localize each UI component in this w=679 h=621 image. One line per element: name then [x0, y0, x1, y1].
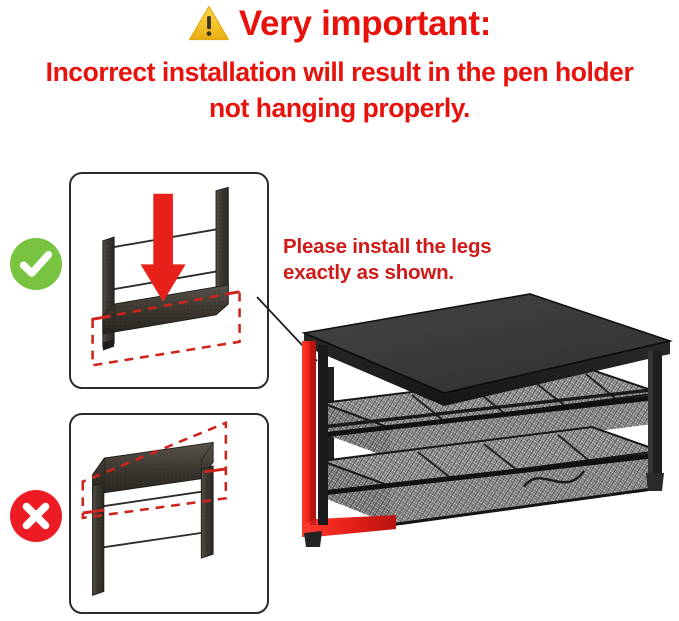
left-leg-post: [93, 483, 104, 596]
callout-line-1: Please install the legs: [283, 234, 553, 260]
headline-row: Very important:: [0, 4, 679, 42]
installation-warning-page: Very important: Incorrect installation w…: [0, 0, 679, 621]
status-badge-correct: [10, 238, 62, 290]
status-badge-incorrect: [10, 490, 62, 542]
panel-incorrect-installation: [69, 413, 269, 614]
warning-line-1: Incorrect installation will result in th…: [0, 59, 679, 86]
right-leg-post: [216, 187, 228, 297]
product-image: [292, 275, 679, 565]
cross-icon: [10, 490, 62, 542]
correct-leg-diagram: [71, 174, 267, 387]
top-crossbar: [93, 442, 214, 494]
incorrect-leg-diagram: [71, 415, 267, 612]
page-title: Very important:: [239, 6, 491, 41]
warning-line-2: not hanging properly.: [0, 95, 679, 122]
right-leg-post: [201, 466, 213, 558]
heading-block: Very important: Incorrect installation w…: [0, 0, 679, 140]
panel-correct-installation: [69, 172, 269, 389]
down-arrow-icon: [141, 194, 186, 302]
pen-holder-monitor-stand-illustration: [292, 275, 679, 565]
check-icon: [10, 238, 62, 290]
warning-triangle-icon: [188, 4, 230, 42]
front-right-leg: [646, 351, 664, 491]
